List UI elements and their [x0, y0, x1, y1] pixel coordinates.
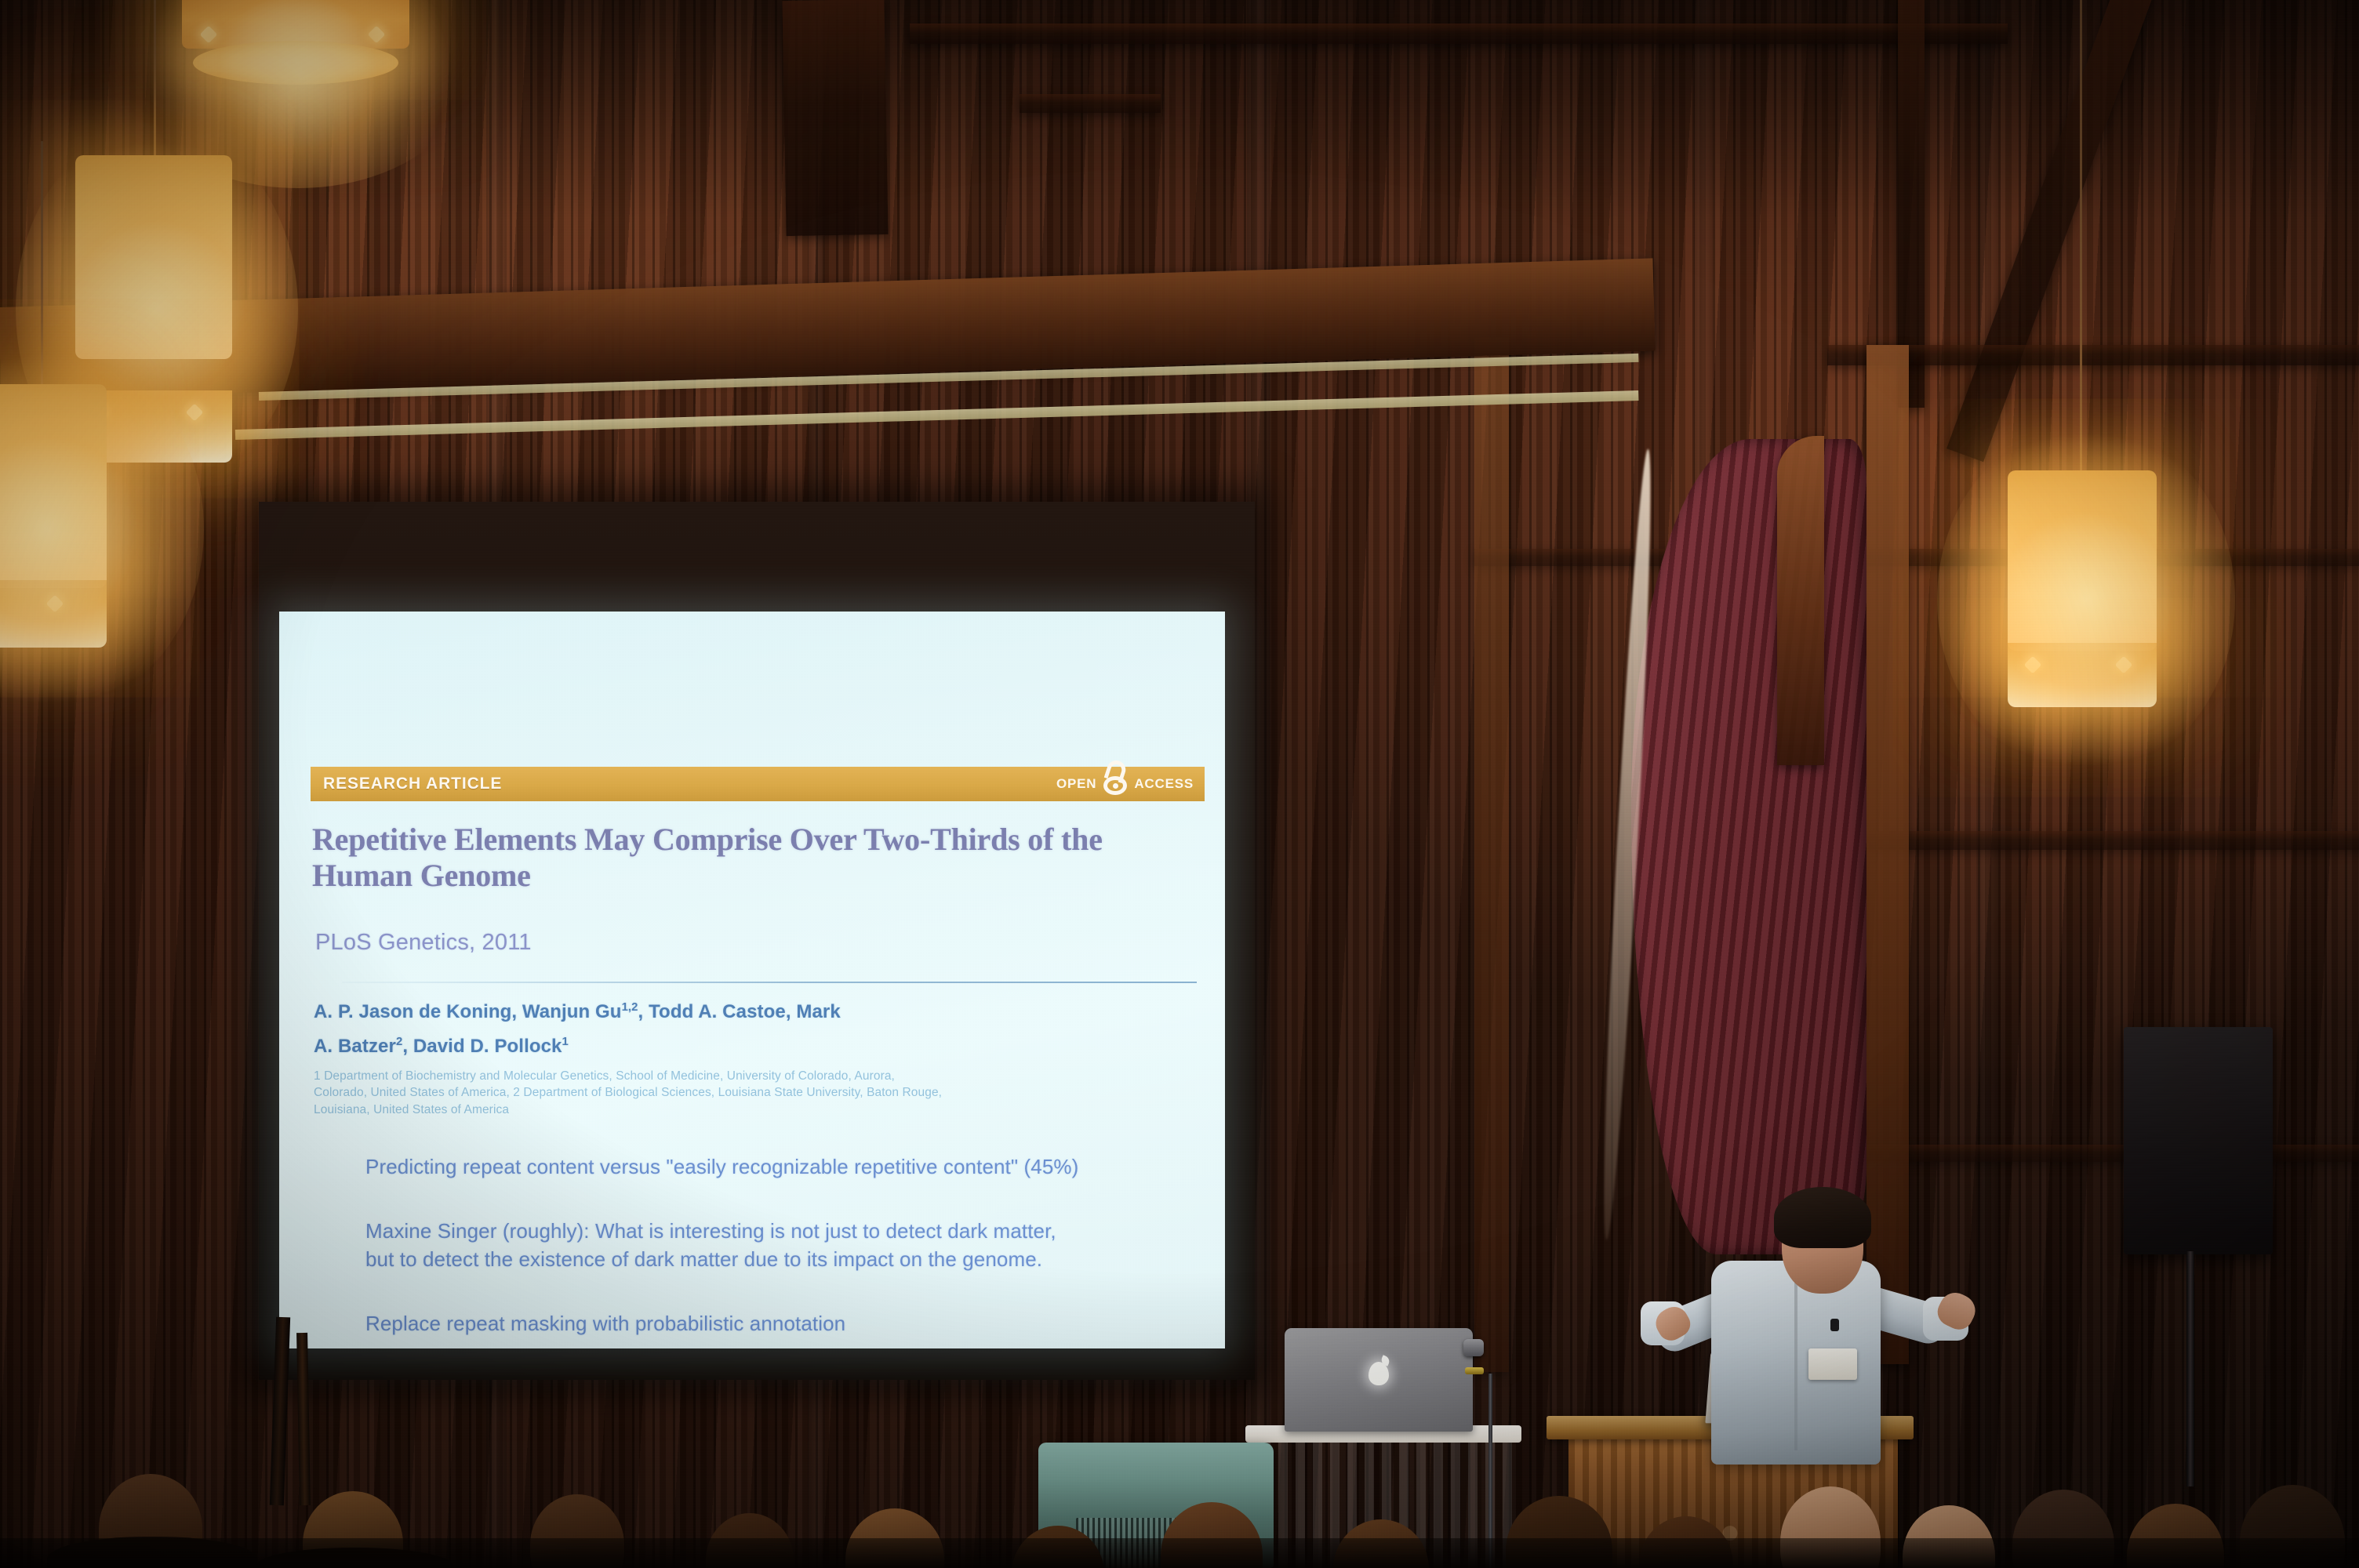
- pa-loudspeaker-on-stand: [2124, 1027, 2273, 1254]
- slide-author-line-1: A. P. Jason de Koning, Wanjun Gu1,2, Tod…: [314, 997, 841, 1028]
- curtain-arch-frame: [1777, 436, 1824, 765]
- ceiling-beam: [1020, 94, 1161, 113]
- wall-rail: [1866, 1145, 2359, 1162]
- slide-bullet-3: Replace repeat masking with probabilisti…: [365, 1309, 1197, 1338]
- name-badge: [1808, 1348, 1857, 1380]
- open-padlock-icon: [1102, 760, 1129, 795]
- wall-rail: [1866, 831, 2359, 850]
- slide-article-title: Repetitive Elements May Comprise Over Tw…: [312, 822, 1159, 895]
- lapel-microphone-icon: [1830, 1319, 1839, 1331]
- author-names-part-1: A. P. Jason de Koning, Wanjun Gu: [314, 1001, 622, 1022]
- slide-affiliations: 1 Department of Biochemistry and Molecul…: [314, 1068, 949, 1118]
- lecture-hall-photo: RESEARCH ARTICLE OPEN ACCESS Repetitive …: [0, 0, 2359, 1568]
- pendant-lamp-cord: [154, 0, 156, 165]
- projected-slide: RESEARCH ARTICLE OPEN ACCESS Repetitive …: [279, 612, 1225, 1348]
- pendant-lamp-top-left-light: [193, 41, 398, 85]
- microphone-icon: [1463, 1339, 1484, 1356]
- slide-bullet-2-line-2: but to detect the existence of dark matt…: [365, 1245, 1197, 1274]
- presenter-shirt-placket: [1794, 1278, 1797, 1450]
- open-access-badge: OPEN ACCESS: [1056, 773, 1205, 795]
- slide-divider-rule: [342, 982, 1197, 983]
- author-affil-marker: 1,2: [622, 1001, 638, 1014]
- wall-board: [1976, 0, 1998, 1568]
- pendant-lamp-cord: [41, 141, 43, 392]
- slide-author-line-2: A. Batzer2, David D. Pollock1: [314, 1032, 569, 1062]
- post-lit: [1866, 345, 1909, 1364]
- apple-logo-icon: [1369, 1362, 1389, 1385]
- stage-curtain: [1631, 439, 1866, 1254]
- pendant-lamp-right-cylinder: [2008, 470, 2157, 651]
- post-lit: [1474, 337, 1509, 1372]
- pendant-lamp-cord: [2080, 0, 2082, 478]
- pendant-lamp-right-collar: [2008, 643, 2157, 707]
- research-article-label: RESEARCH ARTICLE: [311, 775, 502, 793]
- slide-bullet-1: Predicting repeat content versus "easily…: [365, 1152, 1197, 1181]
- microphone-band: [1465, 1367, 1484, 1374]
- pendant-lamp-left-collar: [0, 580, 107, 648]
- av-macbook-laptop: [1285, 1328, 1473, 1432]
- slide-journal-line: PLoS Genetics, 2011: [315, 930, 532, 956]
- author-names-part-2-cont: , David D. Pollock: [402, 1036, 562, 1057]
- author-affil-marker: 1: [562, 1036, 569, 1048]
- ceiling-beam: [910, 24, 2008, 44]
- plos-research-article-banner: RESEARCH ARTICLE OPEN ACCESS: [311, 767, 1205, 801]
- open-access-label-right: ACCESS: [1134, 776, 1194, 792]
- presenter-hair: [1774, 1187, 1871, 1248]
- author-names-part-1-cont: , Todd A. Castoe, Mark: [638, 1001, 841, 1022]
- pendant-lamp-left-cylinder: [0, 384, 107, 588]
- author-names-part-2: A. Batzer: [314, 1036, 396, 1057]
- wall-rail: [1474, 549, 2359, 566]
- ceiling-beam: [782, 0, 888, 236]
- pendant-lamp-upper-left-cylinder: [75, 155, 232, 359]
- slide-bullet-2-line-1: Maxine Singer (roughly): What is interes…: [365, 1217, 1197, 1246]
- audience-shoulder-mass: [0, 1538, 2359, 1568]
- pa-speaker-pole: [2186, 1251, 2194, 1486]
- open-access-label-left: OPEN: [1056, 776, 1096, 792]
